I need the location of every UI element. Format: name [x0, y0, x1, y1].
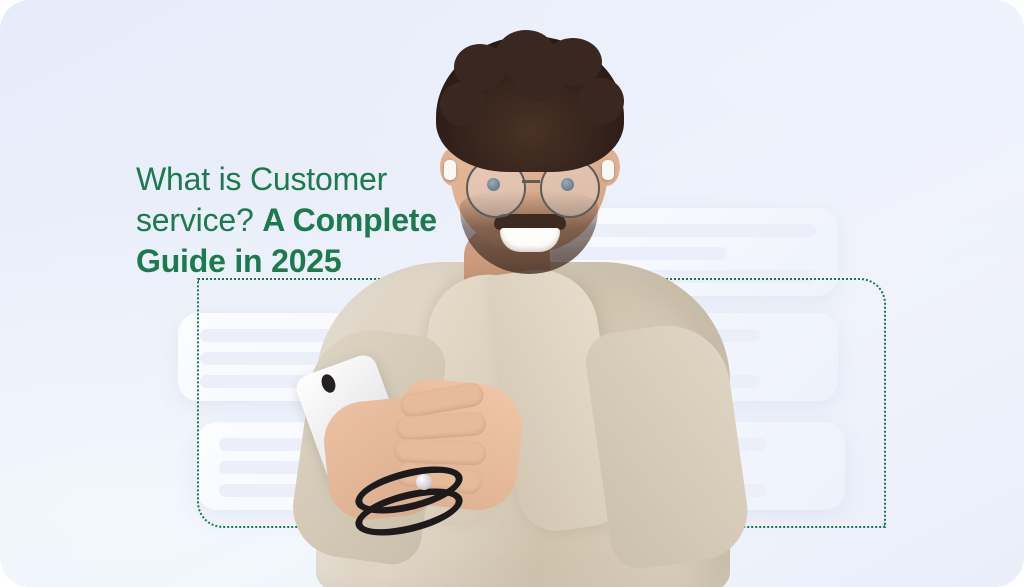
page-title: What is Customer service? A Complete Gui…: [136, 159, 466, 282]
headline-line-2-strong: A Complete: [262, 202, 437, 238]
subject-bottom-fade: [268, 551, 768, 587]
hero-banner: What is Customer service? A Complete Gui…: [0, 0, 1024, 587]
hair-curl: [514, 60, 564, 102]
hair-curl: [440, 82, 486, 126]
smiling-mouth: [500, 228, 560, 252]
earbud-right: [602, 160, 614, 180]
glasses-bridge: [522, 180, 540, 183]
hair-curl: [578, 78, 624, 124]
headline-line-1: What is Customer: [136, 161, 387, 197]
bracelet-bead: [416, 474, 432, 490]
headline-line-2-regular: service?: [136, 202, 262, 238]
headline-line-3-strong: Guide in 2025: [136, 243, 341, 279]
subject-photo: [268, 0, 768, 587]
